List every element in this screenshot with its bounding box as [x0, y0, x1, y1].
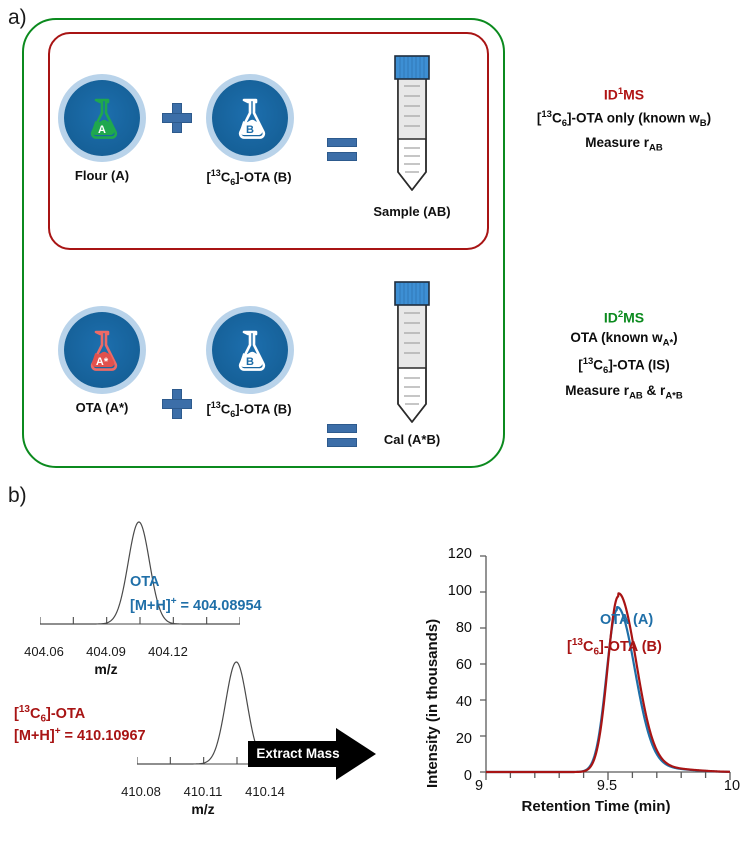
l1-sub: A*	[663, 337, 674, 348]
l3-pre: Measure r	[565, 383, 629, 398]
chromatogram-xtick-10: 10	[715, 778, 749, 794]
l1-end: )	[707, 110, 712, 125]
chromatogram-ytick-60: 60	[430, 657, 472, 673]
extract-mass-label: Extract Mass	[254, 744, 342, 764]
erlenmeyer-flask-blue-icon: B	[227, 327, 273, 373]
annotation-id1ms-line1: [13C6]-OTA only (known wB)	[499, 105, 749, 133]
flask-badge-flour-a: A	[64, 80, 140, 156]
flask-badge-c13-ota-b-row1: B	[212, 80, 288, 156]
l1-pre: OTA (known w	[570, 330, 662, 345]
caption-part-c: C	[221, 401, 230, 416]
ms2-label-line2: [M+H]+ = 410.10967	[14, 722, 146, 746]
centrifuge-tube-icon	[380, 278, 444, 443]
l2-pre: Measure r	[585, 135, 649, 150]
flask-letter-a-star: A*	[96, 356, 109, 368]
equals-bar-top	[327, 138, 357, 147]
ms1-mh-post: = 404.08954	[177, 598, 262, 614]
l3-sub1: AB	[629, 390, 643, 401]
equals-bar-bottom	[327, 152, 357, 161]
l2-post: ]-OTA (IS)	[608, 358, 669, 373]
caption-part-sup: 13	[211, 168, 221, 178]
annotation-id2ms-heading: ID2MS	[499, 305, 749, 328]
erlenmeyer-flask-green-icon: A	[79, 95, 125, 141]
panel-a-label: a)	[8, 6, 27, 30]
flask-letter-b: B	[246, 356, 254, 368]
lg-post: ]-OTA (B)	[599, 639, 662, 655]
chromatogram-plot-area	[478, 552, 738, 787]
ms1-label-line1: OTA	[130, 572, 160, 592]
caption-cal-astar-b: Cal (A*B)	[348, 432, 476, 447]
caption-c13-ota-b-row1: [13C6]-OTA (B)	[178, 168, 320, 187]
annotation-id2ms-line3: Measure rAB & rA*B	[499, 381, 749, 406]
chromatogram-legend-c13-ota-b: [13C6]-OTA (B)	[567, 632, 662, 663]
caption-c13-ota-b-row2: [13C6]-OTA (B)	[178, 400, 320, 419]
caption-part-c: C	[221, 169, 230, 184]
l3-mid: & r	[643, 383, 666, 398]
lg-sup: 13	[572, 637, 583, 648]
ms2-mh-pre: [M+H]	[14, 728, 55, 744]
ms2-sup: 13	[19, 704, 30, 715]
flask-badge-ota-astar: A*	[64, 312, 140, 388]
extract-mass-arrow: Extract Mass	[248, 728, 376, 780]
ms2-post: ]-OTA	[46, 706, 85, 722]
tube-sample-ab	[380, 52, 444, 217]
centrifuge-tube-icon	[380, 52, 444, 212]
flask-badge-c13-ota-b-row2: B	[212, 312, 288, 388]
ms2-mh-post: = 410.10967	[61, 728, 146, 744]
caption-part-post: ]-OTA (B)	[235, 169, 291, 184]
ms2-xlabel: m/z	[159, 801, 247, 817]
chromatogram-legend-ota-a: OTA (A)	[600, 610, 653, 631]
plus-icon-row1	[162, 103, 192, 133]
chromatogram-ytick-120: 120	[430, 546, 472, 562]
id2ms-prefix: ID	[604, 310, 618, 326]
tube-cal-astar-b	[380, 278, 444, 448]
caption-flour-a: Flour (A)	[26, 168, 178, 183]
chromatogram-xtick-95: 9.5	[590, 778, 624, 794]
flask-letter-a: A	[98, 124, 106, 136]
l2-sub: AB	[649, 143, 663, 154]
l2-sup: 13	[583, 356, 594, 367]
annotation-id1ms-heading: ID1MS	[499, 82, 749, 105]
flask-letter-b: B	[246, 124, 254, 136]
l1-post: ]-OTA only (known w	[567, 110, 700, 125]
ms1-label-line2: [M+H]+ = 404.08954	[130, 592, 262, 616]
ms2-xtick-2: 410.14	[221, 784, 309, 799]
caption-sample-ab: Sample (AB)	[348, 204, 476, 219]
chromatogram-ytick-80: 80	[430, 620, 472, 636]
figure-root: a) A Flour (A) B [13C6]-OTA (B)	[0, 0, 749, 842]
caption-part-post: ]-OTA (B)	[235, 401, 291, 416]
annotation-id1ms: ID1MS [13C6]-OTA only (known wB) Measure…	[499, 82, 749, 158]
chromatogram-xlabel: Retention Time (min)	[466, 798, 726, 815]
l2-c: C	[593, 358, 603, 373]
arrow-head-icon	[336, 728, 376, 780]
caption-ota-astar: OTA (A*)	[26, 400, 178, 415]
l1-post: )	[673, 330, 678, 345]
l3-sub2: A*B	[665, 390, 682, 401]
panel-b-label: b)	[8, 484, 27, 508]
equals-icon-row1	[327, 138, 357, 162]
l1-sup: 13	[541, 109, 552, 120]
lg-c: C	[583, 639, 593, 655]
chromatogram-xtick-9: 9	[462, 778, 496, 794]
chart-extracted-ion-chromatogram: Intensity (in thousands) 0 20 40 60 80 1…	[410, 520, 749, 820]
annotation-id1ms-line2: Measure rAB	[499, 133, 749, 158]
annotation-id2ms-line2: [13C6]-OTA (IS)	[499, 352, 749, 380]
chromatogram-ytick-100: 100	[430, 583, 472, 599]
id2ms-suffix: MS	[623, 310, 644, 326]
l1-c: C	[552, 110, 562, 125]
erlenmeyer-flask-blue-icon: B	[227, 95, 273, 141]
chromatogram-ytick-20: 20	[430, 731, 472, 747]
ms1-mh-pre: [M+H]	[130, 598, 171, 614]
id1ms-suffix: MS	[623, 87, 644, 103]
l1-sub2: B	[700, 118, 707, 129]
erlenmeyer-flask-red-icon: A*	[79, 327, 125, 373]
ms2-c: C	[30, 706, 40, 722]
chromatogram-ytick-40: 40	[430, 694, 472, 710]
annotation-id2ms: ID2MS OTA (known wA*) [13C6]-OTA (IS) Me…	[499, 305, 749, 405]
id1ms-prefix: ID	[604, 87, 618, 103]
caption-part-sup: 13	[211, 400, 221, 410]
annotation-id2ms-line1: OTA (known wA*)	[499, 328, 749, 353]
